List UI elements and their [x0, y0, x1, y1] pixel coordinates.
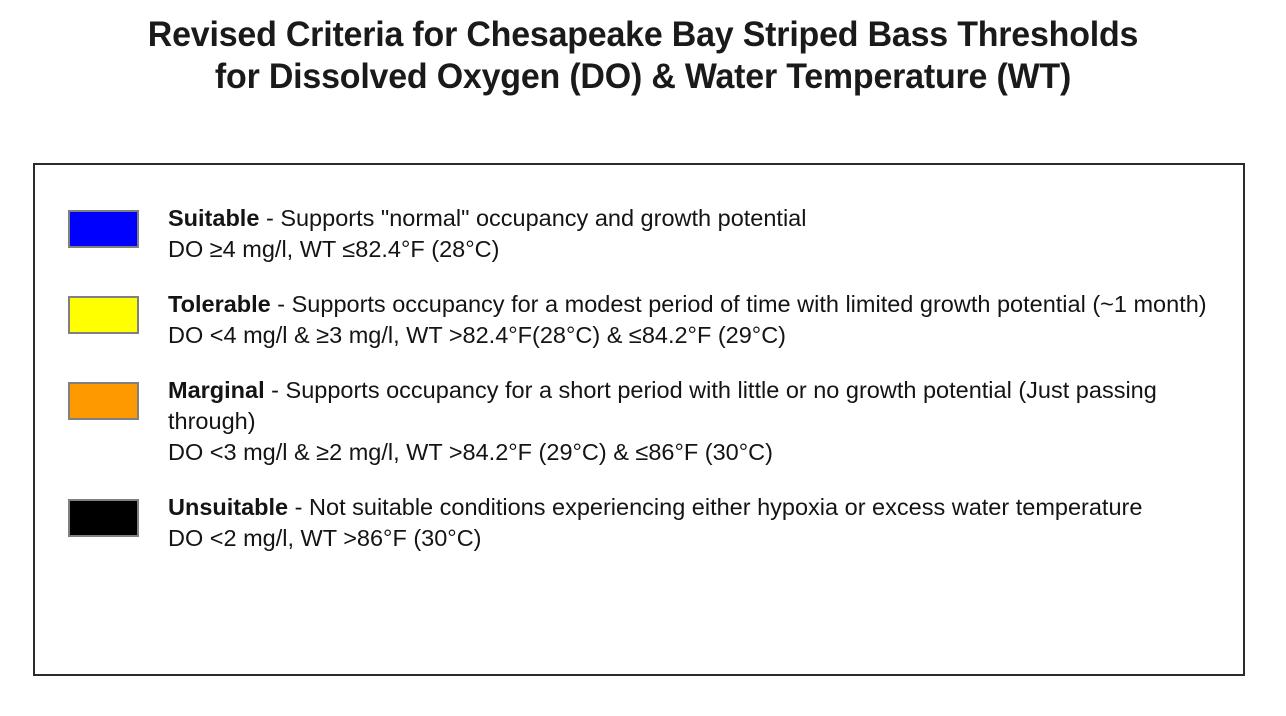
legend-item-text-marginal: Marginal - Supports occupancy for a shor…	[168, 373, 1228, 468]
legend-desc-text-tolerable: Supports occupancy for a modest period o…	[292, 291, 1207, 317]
page-title-line-1: Revised Criteria for Chesapeake Bay Stri…	[19, 14, 1266, 56]
legend-term-marginal: Marginal	[168, 377, 265, 403]
legend-item-text-unsuitable: Unsuitable - Not suitable conditions exp…	[168, 490, 1228, 554]
legend-description-marginal: Marginal - Supports occupancy for a shor…	[168, 375, 1228, 437]
legend-separator-tolerable: -	[271, 291, 292, 317]
legend-item-tolerable: Tolerable - Supports occupancy for a mod…	[68, 287, 1228, 351]
legend-condition-suitable: DO ≥4 mg/l, WT ≤82.4°F (28°C)	[168, 234, 1228, 265]
legend-separator-unsuitable: -	[288, 494, 309, 520]
page-title: Revised Criteria for Chesapeake Bay Stri…	[19, 14, 1266, 98]
legend-list: Suitable - Supports "normal" occupancy a…	[68, 201, 1228, 554]
color-swatch-marginal	[68, 382, 139, 420]
legend-item-text-tolerable: Tolerable - Supports occupancy for a mod…	[168, 287, 1228, 351]
legend-desc-text-suitable: Supports "normal" occupancy and growth p…	[280, 205, 806, 231]
legend-condition-tolerable: DO <4 mg/l & ≥3 mg/l, WT >82.4°F(28°C) &…	[168, 320, 1228, 351]
legend-condition-unsuitable: DO <2 mg/l, WT >86°F (30°C)	[168, 523, 1228, 554]
legend-term-unsuitable: Unsuitable	[168, 494, 288, 520]
legend-condition-marginal: DO <3 mg/l & ≥2 mg/l, WT >84.2°F (29°C) …	[168, 437, 1228, 468]
legend-description-tolerable: Tolerable - Supports occupancy for a mod…	[168, 289, 1228, 320]
legend-item-text-suitable: Suitable - Supports "normal" occupancy a…	[168, 201, 1228, 265]
legend-term-tolerable: Tolerable	[168, 291, 271, 317]
legend-desc-text-unsuitable: Not suitable conditions experiencing eit…	[309, 494, 1142, 520]
legend-desc-text-marginal: Supports occupancy for a short period wi…	[168, 377, 1157, 434]
legend-description-suitable: Suitable - Supports "normal" occupancy a…	[168, 203, 1228, 234]
legend-separator-suitable: -	[259, 205, 280, 231]
color-swatch-suitable	[68, 210, 139, 248]
page-title-line-2: for Dissolved Oxygen (DO) & Water Temper…	[19, 56, 1266, 98]
legend-panel: Suitable - Supports "normal" occupancy a…	[33, 163, 1245, 676]
legend-item-marginal: Marginal - Supports occupancy for a shor…	[68, 373, 1228, 468]
legend-separator-marginal: -	[265, 377, 286, 403]
color-swatch-tolerable	[68, 296, 139, 334]
legend-description-unsuitable: Unsuitable - Not suitable conditions exp…	[168, 492, 1228, 523]
legend-item-suitable: Suitable - Supports "normal" occupancy a…	[68, 201, 1228, 265]
color-swatch-unsuitable	[68, 499, 139, 537]
legend-item-unsuitable: Unsuitable - Not suitable conditions exp…	[68, 490, 1228, 554]
legend-term-suitable: Suitable	[168, 205, 259, 231]
